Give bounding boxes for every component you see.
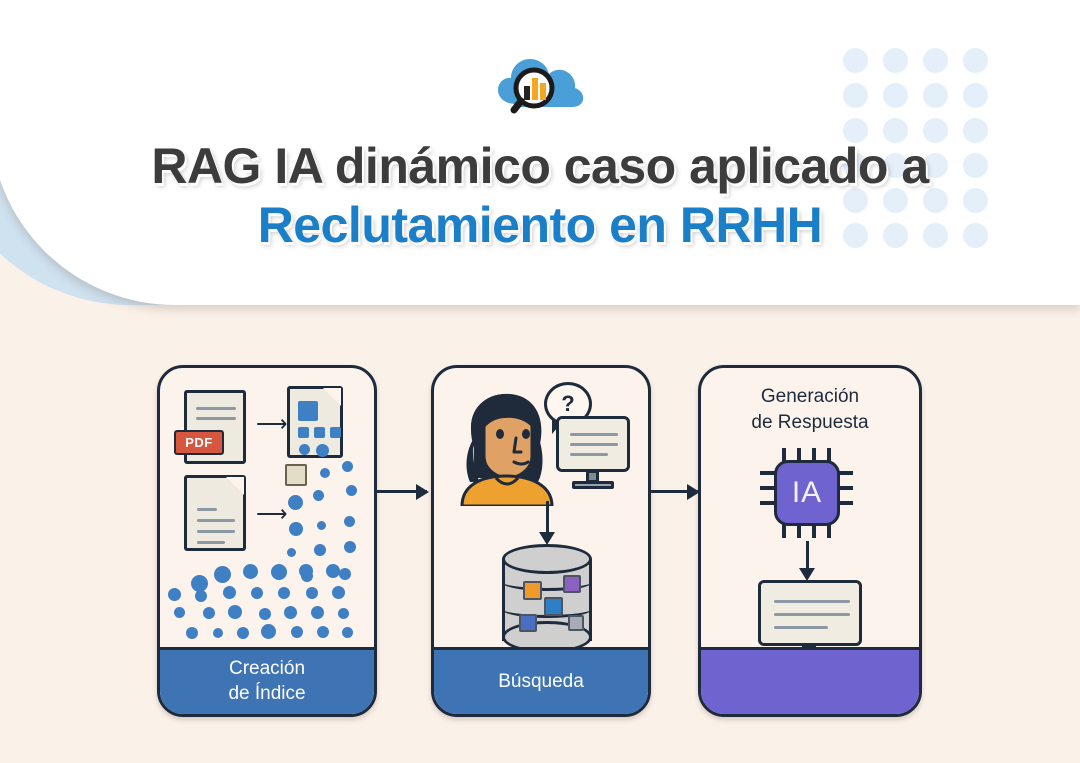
flow-arrow-down-icon bbox=[806, 541, 809, 569]
rag-flow-diagram: PDF ⟶ bbox=[0, 355, 1080, 735]
dot bbox=[923, 83, 948, 108]
panel-3-title-line-2: de Respuesta bbox=[701, 410, 919, 436]
flow-arrow-down-icon bbox=[546, 501, 549, 533]
db-chunk-orange bbox=[523, 581, 542, 600]
plain-document-icon bbox=[184, 475, 246, 551]
dot bbox=[843, 83, 868, 108]
panel-1-footer: Creación de Índice bbox=[160, 647, 374, 714]
db-chunk-gray bbox=[568, 615, 584, 631]
panel-busqueda[interactable]: ? bbox=[431, 365, 651, 717]
dot bbox=[843, 48, 868, 73]
connector-arrow-1 bbox=[377, 490, 427, 493]
panel-creacion-de-indice[interactable]: PDF ⟶ bbox=[157, 365, 377, 717]
page-title: RAG IA dinámico caso aplicado a Reclutam… bbox=[0, 140, 1080, 251]
connector-arrow-2 bbox=[651, 490, 698, 493]
db-chunk-purple bbox=[563, 575, 581, 593]
dot bbox=[883, 83, 908, 108]
panel-1-footer-line-2: de Índice bbox=[228, 682, 305, 707]
dot bbox=[883, 48, 908, 73]
panel-3-title-line-1: Generación bbox=[701, 384, 919, 410]
db-chunk-indigo bbox=[519, 614, 537, 632]
panel-2-body: ? bbox=[434, 368, 648, 653]
panel-2-footer: Búsqueda bbox=[434, 647, 648, 714]
db-chunk-blue bbox=[544, 597, 563, 616]
ai-chip-label: IA bbox=[774, 460, 840, 526]
panel-3-footer bbox=[701, 647, 919, 714]
embedding-square-icon bbox=[285, 464, 307, 486]
monitor-icon bbox=[758, 580, 862, 646]
panel-1-body: PDF ⟶ bbox=[160, 368, 374, 653]
panel-3-title: Generación de Respuesta bbox=[701, 384, 919, 435]
dot bbox=[963, 48, 988, 73]
panel-3-body: Generación de Respuesta bbox=[701, 368, 919, 653]
cloud-magnifier-barchart-logo bbox=[494, 52, 586, 114]
panel-1-footer-line-1: Creación bbox=[228, 657, 305, 682]
arrow-right-icon: ⟶ bbox=[256, 413, 288, 435]
dot bbox=[963, 83, 988, 108]
panel-generacion-de-respuesta[interactable]: Generación de Respuesta bbox=[698, 365, 922, 717]
pdf-badge: PDF bbox=[174, 430, 224, 455]
panel-2-footer-label: Búsqueda bbox=[498, 670, 584, 695]
structured-document-icon bbox=[287, 386, 343, 458]
title-line-1: RAG IA dinámico caso aplicado a bbox=[0, 140, 1080, 193]
title-line-2: Reclutamiento en RRHH bbox=[0, 199, 1080, 252]
monitor-base bbox=[572, 481, 614, 489]
dot bbox=[923, 48, 948, 73]
arrow-right-icon: ⟶ bbox=[256, 503, 288, 525]
slide-canvas: RAG IA dinámico caso aplicado a Reclutam… bbox=[0, 0, 1080, 763]
monitor-icon bbox=[556, 416, 630, 472]
